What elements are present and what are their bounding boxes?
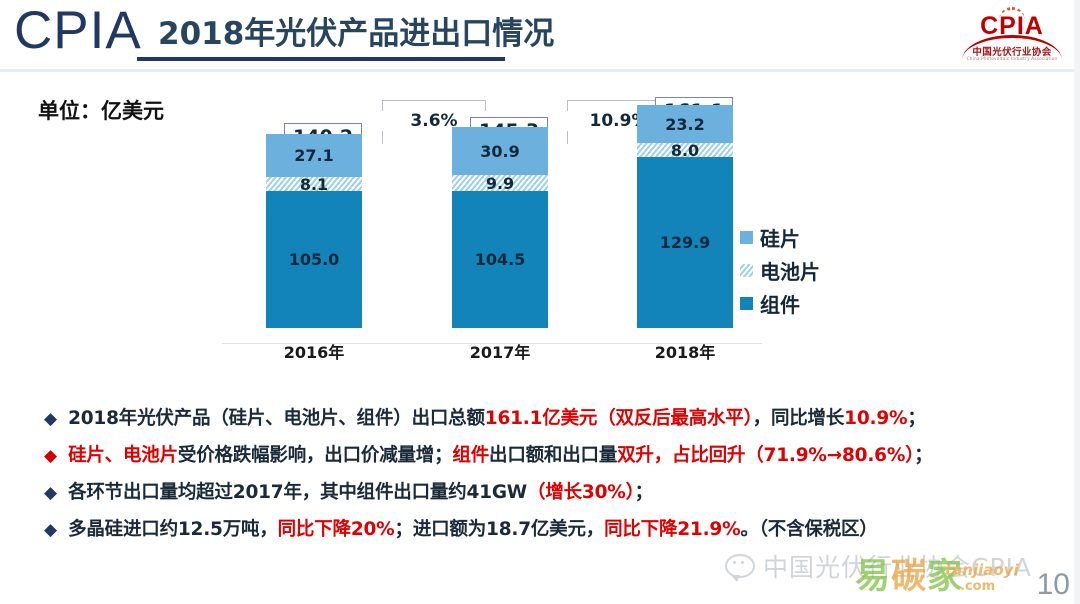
bullet-text-3: 各环节出口量均超过2017年，其中组件出口量约41GW（增长30%）； xyxy=(68,478,653,508)
legend-label: 硅片 xyxy=(760,223,800,252)
cpia-logo: CPIA 中国光伏行业协会 China Photovoltaic Industr… xyxy=(956,2,1068,66)
bullet-part: ； xyxy=(914,445,932,466)
diamond-bullet-icon: ◆ xyxy=(44,478,57,508)
brand-wordmark: CPIA xyxy=(14,2,142,60)
bar-segment-silicon-2018: 23.2 xyxy=(637,105,733,143)
bullet-part-highlight: 双升，占比回升（71.9%→80.6%） xyxy=(617,445,914,466)
header-divider xyxy=(0,69,1080,72)
diamond-bullet-icon: ◆ xyxy=(44,404,57,434)
tanjiaoyi-watermark-english: tanjiaoyi xyxy=(945,562,1019,579)
diamond-bullet-icon: ◆ xyxy=(44,441,57,471)
bar-group-2018: 161.1 23.2 8.0 129.9 2018年 xyxy=(615,95,755,385)
bar-stack-2017: 30.9 9.9 104.5 xyxy=(452,127,548,328)
bullet-part-highlight: 同比下降21.9% xyxy=(604,519,740,540)
bar-segment-module-2017: 104.5 xyxy=(452,191,548,328)
bullet-part: 。（不含保税区） xyxy=(740,519,877,540)
category-label-2016: 2016年 xyxy=(244,339,384,363)
bar-segment-value: 105.0 xyxy=(289,250,340,269)
bar-segment-module-2016: 105.0 xyxy=(266,191,362,328)
bullet-part-highlight: 硅片、电池片 xyxy=(68,445,178,466)
bullet-part: ； xyxy=(635,482,653,503)
legend-item-module: 组件 xyxy=(740,291,890,315)
page-title: 2018年光伏产品进出口情况 xyxy=(158,14,554,54)
bar-group-2017: 145.3 30.9 9.9 104.5 2017年 xyxy=(430,95,570,385)
slide-header: CPIA 2018年光伏产品进出口情况 CPIA 中国光伏行业协会 China … xyxy=(0,0,1080,72)
bullet-part: 2018年光伏产品（硅片、电池片、组件）出口总额 xyxy=(68,408,485,429)
diamond-bullet-icon: ◆ xyxy=(44,515,57,545)
title-underline xyxy=(137,57,505,61)
bar-segment-value: 9.9 xyxy=(486,174,514,193)
bar-group-2016: 140.2 27.1 8.1 105.0 2016年 xyxy=(244,95,384,385)
legend-swatch-icon xyxy=(740,231,753,244)
bar-segment-value: 30.9 xyxy=(480,142,519,161)
bullet-part: 出口额和出口量 xyxy=(489,445,617,466)
bar-segment-value: 104.5 xyxy=(475,250,526,269)
bullet-text-2: 硅片、电池片受价格跌幅影响，出口价减量增；组件出口额和出口量双升，占比回升（71… xyxy=(68,441,932,471)
bar-stack-2016: 27.1 8.1 105.0 xyxy=(266,134,362,328)
wm-char-1: 易 xyxy=(855,557,891,597)
page-number: 10 xyxy=(1037,568,1070,602)
bullet-part-highlight: 161.1亿美元（双反后最高水平） xyxy=(485,408,753,429)
bullet-part: ； xyxy=(907,408,925,429)
category-label-2018: 2018年 xyxy=(615,339,755,363)
legend-label: 组件 xyxy=(760,289,800,318)
wechat-icon-eye xyxy=(733,561,736,564)
bullet-part: 受价格跌幅影响，出口价减量增； xyxy=(178,445,453,466)
bar-segment-cell-2018: 8.0 xyxy=(637,143,733,157)
bar-segment-value: 129.9 xyxy=(660,233,711,252)
cpia-logo-english-name: China Photovoltaic Industry Association xyxy=(956,56,1068,61)
chart-legend: 硅片 电池片 组件 xyxy=(740,225,890,324)
bullet-item-1: ◆ 2018年光伏产品（硅片、电池片、组件）出口总额161.1亿美元（双反后最高… xyxy=(44,404,1044,441)
bullet-part-highlight: （增长30%） xyxy=(527,482,635,503)
bullet-part: 多晶硅进口约12.5万吨， xyxy=(68,519,278,540)
bullet-list: ◆ 2018年光伏产品（硅片、电池片、组件）出口总额161.1亿美元（双反后最高… xyxy=(44,404,1044,552)
legend-swatch-icon xyxy=(740,297,753,310)
bullet-item-3: ◆ 各环节出口量均超过2017年，其中组件出口量约41GW（增长30%）； xyxy=(44,478,1044,515)
bullet-part-highlight: 10.9% xyxy=(844,408,907,429)
bar-segment-module-2018: 129.9 xyxy=(637,157,733,328)
bullet-item-4: ◆ 多晶硅进口约12.5万吨，同比下降20%；进口额为18.7亿美元，同比下降2… xyxy=(44,515,1044,552)
legend-swatch-icon xyxy=(740,264,753,277)
category-label-2017: 2017年 xyxy=(430,339,570,363)
legend-item-silicon: 硅片 xyxy=(740,225,890,249)
wechat-icon xyxy=(725,554,755,578)
bar-stack-2018: 23.2 8.0 129.9 xyxy=(637,105,733,328)
tanjiaoyi-watermark-domain: .com xyxy=(960,579,995,594)
tanjiaoyi-watermark: 易碳家 tanjiaoyi .com xyxy=(855,558,963,596)
bullet-part-highlight: 同比下降20% xyxy=(278,519,395,540)
bullet-part: 各环节出口量均超过2017年，其中组件出口量约41GW xyxy=(68,482,527,503)
bar-segment-value: 27.1 xyxy=(294,146,333,165)
bar-segment-silicon-2016: 27.1 xyxy=(266,134,362,177)
bullet-item-2: ◆ 硅片、电池片受价格跌幅影响，出口价减量增；组件出口额和出口量双升，占比回升（… xyxy=(44,441,1044,478)
bullet-part: ；进口额为18.7亿美元， xyxy=(395,519,605,540)
bullet-text-4: 多晶硅进口约12.5万吨，同比下降20%；进口额为18.7亿美元，同比下降21.… xyxy=(68,515,878,545)
stacked-bar-chart: 140.2 27.1 8.1 105.0 2016年 3.6% 145.3 30… xyxy=(0,95,900,385)
bullet-part: ，同比增长 xyxy=(753,408,845,429)
bar-segment-cell-2017: 9.9 xyxy=(452,175,548,191)
wechat-icon-eye xyxy=(741,561,744,564)
legend-label: 电池片 xyxy=(760,256,820,285)
legend-item-cell: 电池片 xyxy=(740,258,890,282)
bar-segment-cell-2016: 8.1 xyxy=(266,177,362,191)
bullet-part-highlight: 组件 xyxy=(452,445,489,466)
slide-right-edge xyxy=(1074,0,1080,604)
bullet-text-1: 2018年光伏产品（硅片、电池片、组件）出口总额161.1亿美元（双反后最高水平… xyxy=(68,404,926,434)
bar-segment-value: 23.2 xyxy=(665,115,704,134)
bar-segment-silicon-2017: 30.9 xyxy=(452,127,548,175)
wm-char-2: 碳 xyxy=(891,557,927,597)
